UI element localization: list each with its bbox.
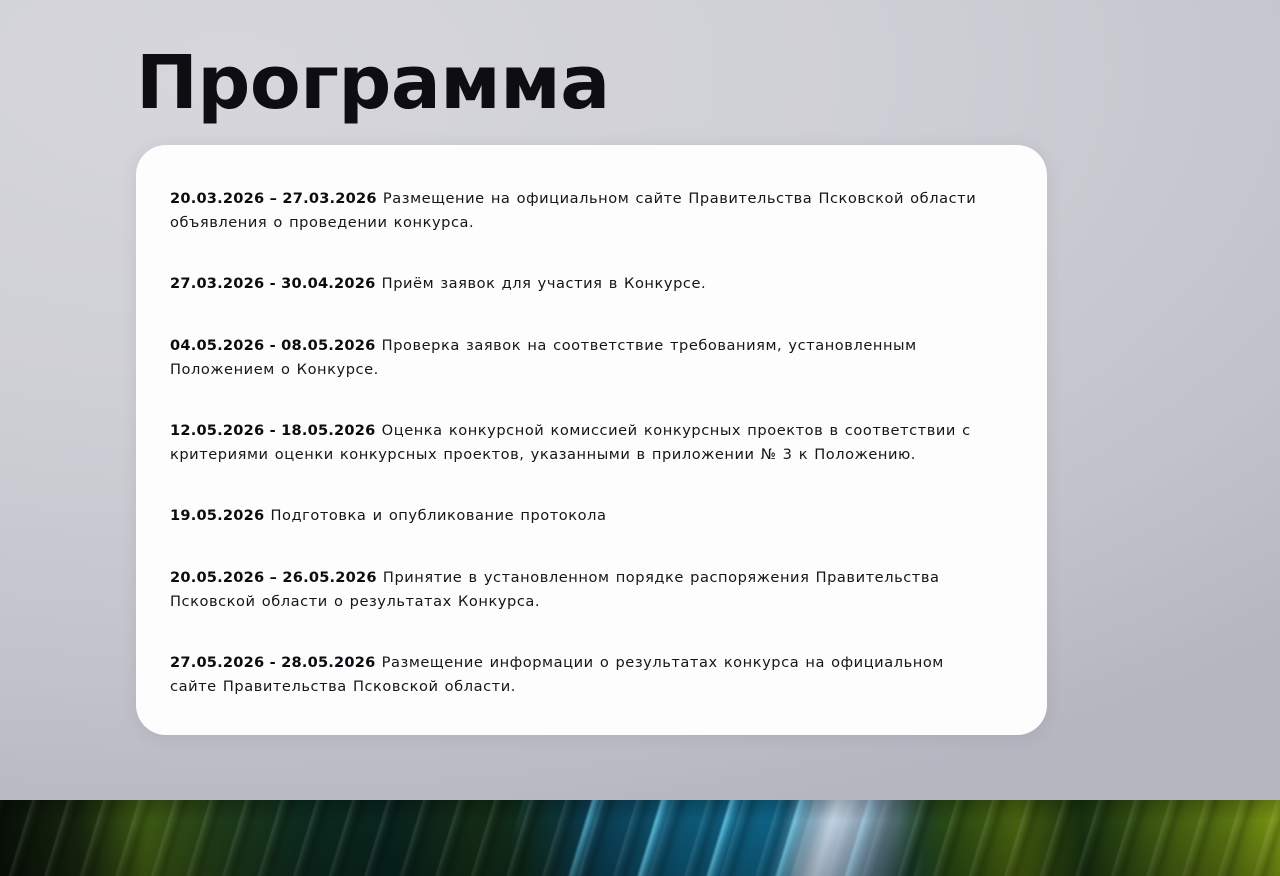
schedule-item-text: Приём заявок для участия в Конкурсе. [382, 275, 707, 292]
schedule-item-text: Подготовка и опубликование протокола [271, 507, 607, 524]
program-card: 20.03.2026 – 27.03.2026 Размещение на оф… [136, 145, 1047, 735]
schedule-item-date: 19.05.2026 [170, 507, 264, 524]
schedule-item-date: 12.05.2026 - 18.05.2026 [170, 422, 375, 439]
schedule-item: 20.03.2026 – 27.03.2026 Размещение на оф… [170, 187, 991, 234]
slide-root: Программа 20.03.2026 – 27.03.2026 Размещ… [0, 0, 1280, 876]
schedule-item: 04.05.2026 - 08.05.2026 Проверка заявок … [170, 334, 991, 381]
schedule-item: 27.03.2026 - 30.04.2026 Приём заявок для… [170, 272, 991, 296]
photo-vignette [0, 800, 1280, 876]
schedule-item: 20.05.2026 – 26.05.2026 Принятие в устан… [170, 566, 991, 613]
footer-photo-strip [0, 800, 1280, 876]
schedule-item-date: 04.05.2026 - 08.05.2026 [170, 337, 375, 354]
schedule-item-date: 20.03.2026 – 27.03.2026 [170, 190, 377, 207]
schedule-item: 27.05.2026 - 28.05.2026 Размещение инфор… [170, 651, 991, 698]
schedule-item: 12.05.2026 - 18.05.2026 Оценка конкурсно… [170, 419, 991, 466]
schedule-list: 20.03.2026 – 27.03.2026 Размещение на оф… [170, 187, 991, 699]
schedule-item-date: 27.05.2026 - 28.05.2026 [170, 654, 375, 671]
schedule-item-date: 27.03.2026 - 30.04.2026 [170, 275, 375, 292]
schedule-item-date: 20.05.2026 – 26.05.2026 [170, 569, 377, 586]
page-title: Программа [136, 46, 610, 120]
schedule-item: 19.05.2026 Подготовка и опубликование пр… [170, 504, 991, 528]
